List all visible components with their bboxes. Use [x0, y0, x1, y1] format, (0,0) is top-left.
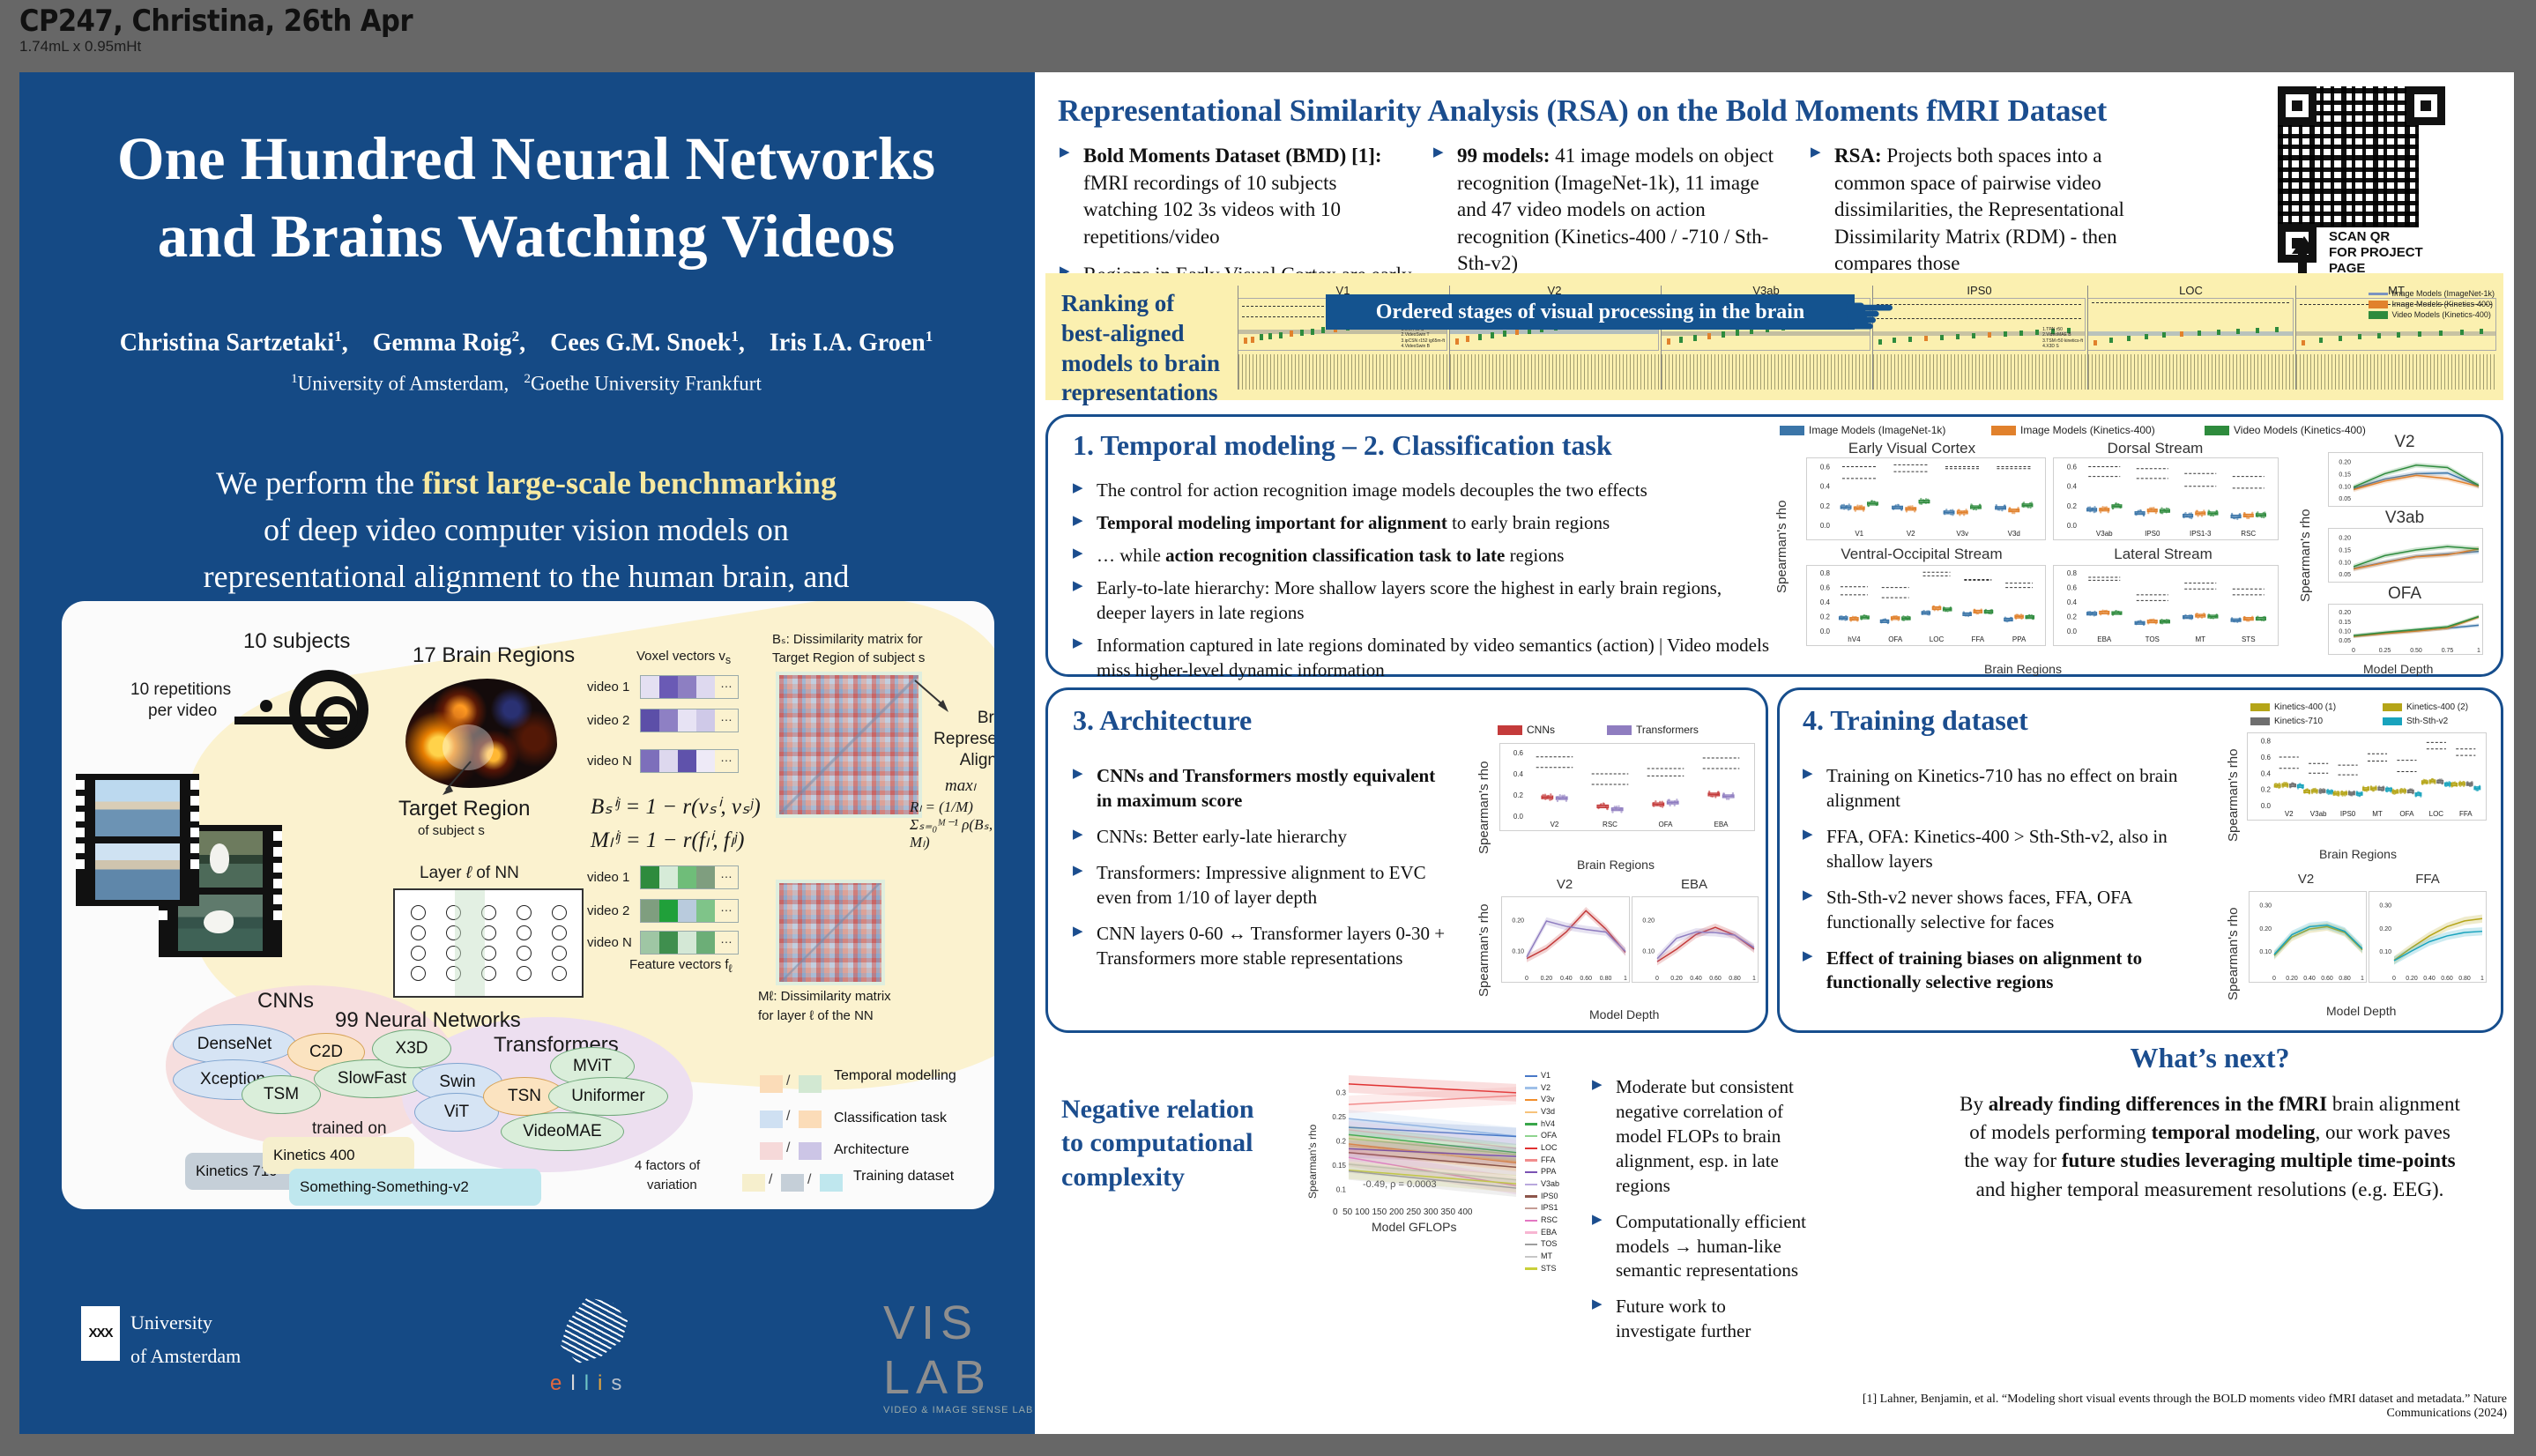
qr-finder-tl: [2278, 86, 2317, 125]
ranking-title-l3: models to brain: [1061, 349, 1238, 379]
svg-text:0.6: 0.6: [1820, 464, 1831, 472]
s12-legend-1: Image Models (ImageNet-1k): [1780, 424, 1945, 436]
neg-bullet-2-text: Computationally efficient models → human…: [1616, 1211, 1806, 1281]
svg-text:0: 0: [2272, 976, 2276, 982]
s12-legend-2: Image Models (Kinetics-400): [1991, 424, 2155, 436]
svg-text:0.05: 0.05: [2339, 572, 2351, 578]
svg-text:0.0: 0.0: [1820, 522, 1831, 530]
svg-text:STS: STS: [2242, 635, 2256, 643]
negative-bullets: Moderate but consistent negative correla…: [1592, 1075, 1811, 1356]
svg-text:MT: MT: [2195, 635, 2205, 643]
section-12-card: 1. Temporal modeling – 2. Classification…: [1045, 414, 2503, 677]
scan-arrow-stem-icon: [2298, 252, 2307, 273]
rsa-bullet-5: RSA: Projects both spaces into a common …: [1811, 143, 2172, 278]
s3-depth-xlabel: Model Depth: [1589, 1007, 1659, 1021]
swatch-separator-4: /: [769, 1172, 772, 1188]
svg-text:0.4: 0.4: [1820, 598, 1831, 606]
s12-panel-title-vos: Ventral-Occipital Stream: [1794, 546, 2049, 563]
ranking-panel-v3ab-ticks: [1662, 354, 1870, 390]
ranking-title-l4: representations: [1061, 378, 1238, 408]
model-rdm-matrix: [776, 880, 885, 985]
ranking-panel-mt-ticks: [2296, 354, 2496, 390]
gflops-legend-item: V3v: [1525, 1094, 1559, 1106]
factor-swatch-arch-a: [760, 1142, 783, 1160]
gflops-legend-item: V2: [1525, 1082, 1559, 1095]
wn-l1b: already finding differences in the fMRI: [1989, 1093, 2327, 1115]
s4-box-xlabel: Brain Regions: [2319, 847, 2397, 861]
scan-arrow-head-icon: [2292, 236, 2317, 254]
ips0-top-3: 3.TSM r50 kinetics-ft: [2042, 338, 2083, 344]
svg-text:0.0: 0.0: [1513, 813, 1524, 821]
gflops-legend-swatch: [1525, 1195, 1537, 1198]
subject-head-icon: [260, 700, 272, 712]
gflops-legend-swatch: [1525, 1099, 1537, 1102]
s3-depth-title-v2: V2: [1499, 877, 1630, 892]
svg-text:0.2: 0.2: [1336, 1138, 1347, 1146]
negative-relation-section: Negative relation to computational compl…: [1052, 1040, 1775, 1304]
feature-row-video2: video 2 …: [587, 899, 739, 923]
s12-panel-title-evc: Early Visual Cortex: [1794, 440, 2030, 457]
factor-swatch-temporal-b: [799, 1075, 822, 1093]
s12-legend-label-1: Image Models (ImageNet-1k): [1809, 424, 1945, 436]
section-3-title: 3. Architecture: [1073, 704, 1252, 737]
svg-text:V3ab: V3ab: [2310, 810, 2327, 818]
svg-text:0.2: 0.2: [1513, 791, 1524, 799]
gflops-legend-item: V1: [1525, 1070, 1559, 1082]
svg-text:IPS0: IPS0: [2145, 530, 2160, 538]
factor-legend-temporal: Temporal modelling: [834, 1068, 956, 1084]
brain-regions-label: 17 Brain Regions: [413, 643, 575, 668]
svg-text:0.60: 0.60: [1709, 976, 1722, 982]
svg-text:LOC: LOC: [2429, 810, 2444, 818]
s12-depth-ylabel: Spearman's rho: [2298, 509, 2313, 602]
svg-text:0.15: 0.15: [2339, 472, 2351, 478]
svg-text:OFA: OFA: [1888, 635, 1903, 643]
s4-depth-xlabel: Model Depth: [2326, 1004, 2396, 1018]
s12-legend-swatch-1: [1780, 426, 1804, 435]
factor-legend-architecture: Architecture: [834, 1142, 909, 1158]
svg-text:0.3: 0.3: [1336, 1088, 1347, 1096]
svg-text:0.25: 0.25: [2379, 648, 2391, 654]
svg-text:IPS0: IPS0: [2340, 810, 2356, 818]
formula-brain-rdm: Bₛⁱʲ = 1 − r(vₛⁱ, vₛʲ): [591, 793, 761, 820]
gflops-legend-swatch: [1525, 1171, 1537, 1174]
section-12-bullets: The control for action recognition image…: [1073, 479, 1769, 694]
gflops-legend-item: RSC: [1525, 1215, 1559, 1227]
s4-depth-title-ffa: FFA: [2369, 872, 2487, 887]
svg-text:0.60: 0.60: [2321, 976, 2333, 982]
svg-text:1: 1: [2480, 976, 2484, 982]
qr-code-image[interactable]: [2278, 86, 2419, 227]
svg-text:0.05: 0.05: [2339, 638, 2351, 644]
svg-text:V1: V1: [1855, 530, 1863, 538]
ellis-wordmark: ellis: [550, 1371, 630, 1396]
bra-label-3: Alignment: [931, 751, 994, 770]
svg-text:0.80: 0.80: [1600, 976, 1612, 982]
gflops-legend-swatch: [1525, 1075, 1537, 1078]
s4-legend-swatch-k400-2: [2383, 703, 2402, 711]
voxel-row-label-N: video N: [587, 754, 640, 769]
target-region-arrow: [441, 760, 476, 797]
gflops-legend-swatch: [1525, 1256, 1537, 1259]
gflops-legend-label: STS: [1541, 1263, 1557, 1275]
s3-legend-swatch-tr: [1607, 725, 1632, 735]
neg-title-l3: complexity: [1061, 1161, 1282, 1194]
uva-logo-text: University of Amsterdam: [130, 1304, 241, 1371]
gflops-legend-swatch: [1525, 1111, 1537, 1114]
svg-text:0.4: 0.4: [1820, 483, 1831, 491]
ranking-panel-ips0-title: IPS0: [1873, 284, 2086, 297]
gflops-legend-label: RSC: [1541, 1215, 1558, 1227]
neg-bullet-3: Future work to investigate further: [1592, 1295, 1811, 1344]
page-title: One Hundred Neural Networks and Brains W…: [55, 121, 998, 275]
s3-bullet-2-text: CNNs: Better early-late hierarchy: [1097, 826, 1347, 847]
feature-row-label-1: video 1: [587, 870, 640, 885]
s4-bullet-3-text: Sth-Sth-v2 never shows faces, FFA, OFA f…: [1826, 887, 2131, 932]
s4-depth-plot-v2: 0.100.200.3000.200.400.600.801: [2249, 891, 2367, 983]
gflops-legend-item: EBA: [1525, 1227, 1559, 1239]
s3-legend-label-tr: Transformers: [1636, 724, 1699, 736]
gflops-annotation: -0.49, ρ = 0.0003: [1363, 1179, 1437, 1190]
gflops-legend-swatch: [1525, 1123, 1537, 1125]
poster-canvas: One Hundred Neural Networks and Brains W…: [19, 72, 2514, 1434]
section-4-bullets: Training on Kinetics-710 has no effect o…: [1803, 764, 2208, 1007]
wn-l3a: the way for: [1964, 1149, 2062, 1171]
s4-depth-plot-ffa: 0.100.200.3000.200.400.600.801: [2369, 891, 2487, 983]
svg-text:0: 0: [2352, 648, 2355, 654]
s3-legend-label-cnn: CNNs: [1527, 724, 1555, 736]
ranking-legend: Image Models (ImageNet-1k) Image Models …: [2369, 289, 2495, 321]
gflops-legend-label: V3v: [1541, 1094, 1555, 1106]
svg-text:0.05: 0.05: [2339, 496, 2351, 502]
svg-text:0.40: 0.40: [1560, 976, 1573, 982]
neg-title-l1: Negative relation: [1061, 1093, 1282, 1126]
section-4-card: 4. Training dataset Training on Kinetics…: [1777, 687, 2503, 1033]
dataset-something-something: Something-Something-v2: [289, 1169, 541, 1206]
qr-label-scan: SCAN: [2329, 229, 2367, 244]
svg-text:0.6: 0.6: [1513, 749, 1524, 757]
alignment-arrow: [913, 679, 952, 714]
gflops-legend-item: FFA: [1525, 1155, 1559, 1167]
vislab-subtitle: VIDEO & IMAGE SENSE LAB: [883, 1405, 1033, 1415]
svg-text:0.4: 0.4: [2067, 598, 2078, 606]
repetitions-label-2: per video: [148, 702, 217, 721]
s3-bullet-4: CNN layers 0-60 ↔ Transformer layers 0-3…: [1073, 922, 1452, 971]
svg-text:V3d: V3d: [2008, 530, 2020, 538]
ranking-top-models-ips0: 1.TPN r50 2.VideoMAE B 3.TSM r50 kinetic…: [2042, 327, 2083, 349]
uva-line-2: of Amsterdam: [130, 1345, 241, 1367]
model-bubble-uniformer: Uniformer: [548, 1077, 668, 1116]
factor-swatch-train-b: [781, 1174, 804, 1192]
gflops-legend-item: MT: [1525, 1251, 1559, 1263]
swatch-separator-2: /: [786, 1109, 790, 1125]
s12-bullet-3-bold: action recognition classification task t…: [1165, 545, 1505, 566]
s4-legend-label-3: Kinetics-710: [2274, 717, 2323, 726]
ranking-legend-row-2: Image Models (Kinetics-400): [2369, 300, 2495, 308]
svg-text:0.20: 0.20: [2379, 926, 2391, 932]
gflops-legend-label: V1: [1541, 1070, 1551, 1082]
target-region-label-1: Target Region: [398, 797, 530, 821]
v1-top-3: 3.ipCSN r152 ig65m-ft: [1402, 338, 1445, 344]
trained-on-label: trained on: [312, 1119, 387, 1139]
svg-text:0.15: 0.15: [1332, 1162, 1346, 1170]
svg-text:1: 1: [2361, 976, 2364, 982]
s4-bullet-4-bold: Effect of training biases on alignment t…: [1826, 947, 2142, 993]
gflops-legend-swatch: [1525, 1159, 1537, 1162]
section-3-bullets: CNNs and Transformers mostly equivalent …: [1073, 764, 1452, 982]
gflops-legend-swatch: [1525, 1184, 1537, 1186]
s4-legend-swatch-k710: [2250, 717, 2270, 725]
ellis-logo: ellis: [529, 1297, 679, 1394]
nn-layer-label: Layer ℓ of NN: [420, 864, 519, 883]
svg-text:0.75: 0.75: [2442, 648, 2454, 654]
gflops-legend-label: TOS: [1541, 1238, 1557, 1251]
qr-code-block[interactable]: SCAN QR FOR PROJECT PAGE: [2278, 86, 2445, 263]
svg-text:0.4: 0.4: [2261, 769, 2272, 777]
ranking-legend-label-3: Video Models (Kinetics-400): [2391, 310, 2490, 319]
uva-shield-icon: XXX: [81, 1306, 120, 1361]
svg-text:0.60: 0.60: [1580, 976, 1592, 982]
method-figure: 10 subjects 10 repetitions per video 17 …: [62, 601, 994, 1209]
s4-depth-title-v2: V2: [2247, 872, 2365, 887]
s3-bullet-1: CNNs and Transformers mostly equivalent …: [1073, 764, 1452, 813]
gflops-legend-swatch: [1525, 1231, 1537, 1234]
author-list: Christina Sartzetaki1, Gemma Roig2, Cees…: [55, 328, 998, 357]
bra-label-2: Representational: [922, 730, 994, 749]
feature-row-videoN: video N …: [587, 931, 739, 955]
s4-legend-1: Kinetics-400 (1): [2250, 702, 2336, 712]
s3-legend-1: CNNs: [1498, 724, 1555, 736]
wn-l1a: By: [1960, 1093, 1989, 1115]
gflops-legend-swatch: [1525, 1267, 1537, 1270]
s3-depth-plot-v2: 0.100.2000.200.400.600.801: [1501, 896, 1630, 983]
wn-l3b: future studies leveraging multiple time-…: [2062, 1149, 2456, 1171]
qr-label-qr: QR: [2370, 229, 2391, 244]
gflops-legend-item: TOS: [1525, 1238, 1559, 1251]
s12-depth-plot-v2: 0.050.100.150.20: [2328, 452, 2483, 507]
section-3-card: 3. Architecture CNNs and Transformers mo…: [1045, 687, 1768, 1033]
svg-text:0.20: 0.20: [1642, 917, 1655, 924]
svg-text:0.20: 0.20: [2339, 610, 2351, 616]
s3-bullet-3-text: Transformers: Impressive alignment to EV…: [1097, 862, 1426, 908]
s4-bullet-2: FFA, OFA: Kinetics-400 > Sth-Sth-v2, als…: [1803, 825, 2208, 874]
gflops-legend-item: V3ab: [1525, 1178, 1559, 1191]
s12-plot-evc: 0.00.20.40.6V1V2V3vV3d: [1806, 457, 2046, 540]
rsa-bullet-1-text: fMRI recordings of 10 subjects watching …: [1083, 172, 1341, 248]
s12-legend-swatch-3: [2205, 426, 2229, 435]
formula-max-label: maxₗ: [945, 776, 976, 796]
svg-text:0.10: 0.10: [2379, 949, 2391, 955]
ml-caption-line2: for layer ℓ of the NN: [758, 1008, 874, 1023]
svg-text:V2: V2: [1907, 530, 1915, 538]
s4-legend-label-1: Kinetics-400 (1): [2274, 702, 2336, 712]
svg-text:0.15: 0.15: [2339, 547, 2351, 553]
s4-depth-ylabel: Spearman's rho: [2226, 908, 2241, 1000]
swatch-separator-5: /: [807, 1172, 811, 1188]
svg-text:0.0: 0.0: [2067, 628, 2078, 635]
wn-l4: and higher temporal measurement resoluti…: [1976, 1178, 2444, 1200]
s3-legend-swatch-cnn: [1498, 725, 1522, 735]
video-filmstrip-1: [76, 774, 199, 906]
s12-bullet-2-bold: Temporal modeling important for alignmen…: [1097, 512, 1447, 533]
s12-bullet-5: Information captured in late regions dom…: [1073, 634, 1769, 683]
wn-l1c: brain alignment: [2327, 1093, 2460, 1115]
svg-text:0.40: 0.40: [2423, 976, 2436, 982]
gflops-legend-item: OFA: [1525, 1130, 1559, 1142]
model-bubble-x3d: X3D: [372, 1029, 451, 1068]
svg-text:TOS: TOS: [2146, 635, 2160, 643]
legend-swatch-imagenet: [2369, 293, 2388, 295]
ranking-panel-loc-ticks: [2088, 354, 2294, 390]
model-bubble-videomae: VideoMAE: [501, 1112, 624, 1151]
svg-text:1: 1: [1752, 976, 1756, 982]
s12-panel-title-lateral: Lateral Stream: [2053, 546, 2273, 563]
s4-legend-2: Kinetics-400 (2): [2383, 702, 2468, 712]
rsa-section-title: Representational Similarity Analysis (RS…: [1058, 93, 2107, 129]
svg-text:hV4: hV4: [1848, 635, 1861, 643]
svg-text:0.20: 0.20: [2339, 460, 2351, 466]
repetitions-label-1: 10 repetitions: [130, 680, 231, 700]
svg-text:FFA: FFA: [2459, 810, 2473, 818]
gflops-legend-item: IPS0: [1525, 1191, 1559, 1203]
svg-text:RSC: RSC: [1603, 821, 1618, 828]
scanner-bed-icon: [234, 717, 347, 724]
svg-text:V2: V2: [1551, 821, 1559, 828]
s3-bullet-4-text: CNN layers 0-60 ↔ Transformer layers 0-3…: [1097, 923, 1445, 969]
rsa-bullet-3: 99 models: 41 image models on object rec…: [1433, 143, 1786, 278]
svg-text:IPS1-3: IPS1-3: [2190, 530, 2212, 538]
s12-box-ylabel: Spearman's rho: [1774, 501, 1789, 593]
svg-text:0.10: 0.10: [1512, 949, 1524, 955]
svg-text:0.10: 0.10: [2339, 484, 2351, 490]
window-title-bar: CP247, Christina, 26th Apr 1.74mL x 0.95…: [0, 0, 2536, 72]
svg-text:MT: MT: [2372, 810, 2383, 818]
factor-legend-training: Training dataset: [853, 1169, 954, 1185]
svg-text:0.6: 0.6: [2067, 464, 2078, 472]
neg-title-l2: to computational: [1061, 1126, 1282, 1160]
factor-swatch-arch-b: [799, 1142, 822, 1160]
voxel-row-label-2: video 2: [587, 713, 640, 728]
gflops-legend-item: IPS1: [1525, 1202, 1559, 1215]
svg-text:0.6: 0.6: [1820, 584, 1831, 592]
svg-text:0.6: 0.6: [2261, 754, 2272, 761]
factor-swatch-class-a: [760, 1111, 783, 1128]
svg-text:EBA: EBA: [2097, 635, 2112, 643]
s12-depth-title-v2: V2: [2321, 433, 2488, 452]
ranking-panel-v1-ticks: [1238, 354, 1447, 390]
factor-swatch-train-c: [820, 1174, 843, 1192]
summary-l3: representational alignment to the human …: [204, 559, 850, 594]
svg-text:0.20: 0.20: [2339, 536, 2351, 542]
svg-text:FFA: FFA: [1971, 635, 1984, 643]
qr-label-for: FOR: [2329, 245, 2357, 260]
subjects-label: 10 subjects: [243, 629, 350, 654]
gflops-legend-item: STS: [1525, 1263, 1559, 1275]
svg-text:0.25: 0.25: [1332, 1113, 1346, 1121]
neural-network-diagram: [393, 888, 584, 998]
nn-count-label: 99 Neural Networks: [335, 1008, 521, 1033]
gflops-legend-item: V3d: [1525, 1106, 1559, 1118]
s12-depth-title-ofa: OFA: [2321, 584, 2488, 604]
s3-bullet-1-bold: CNNs and Transformers mostly equivalent …: [1097, 765, 1435, 811]
ellis-map-icon: [552, 1297, 640, 1366]
s4-bullet-3: Sth-Sth-v2 never shows faces, FFA, OFA f…: [1803, 886, 2208, 935]
rsa-bullet-3-bold: 99 models:: [1457, 145, 1550, 167]
gflops-legend-label: V2: [1541, 1082, 1551, 1095]
svg-text:0.60: 0.60: [2441, 976, 2453, 982]
svg-text:1: 1: [1624, 976, 1627, 982]
svg-text:0.20: 0.20: [1541, 976, 1553, 982]
svg-text:0.0: 0.0: [2261, 802, 2272, 810]
gflops-xlabel: Model GFLOPs: [1372, 1220, 1456, 1234]
voxel-row-video2: video 2 …: [587, 709, 739, 732]
s3-depth-ylabel: Spearman's rho: [1476, 904, 1491, 997]
s3-box-ylabel: Spearman's rho: [1476, 761, 1491, 854]
gflops-ylabel: Spearman's rho: [1306, 1125, 1319, 1199]
svg-text:0.2: 0.2: [1820, 502, 1831, 510]
summary-l2: of deep video computer vision models on: [264, 512, 789, 547]
svg-text:0: 0: [2392, 976, 2396, 982]
gflops-legend-swatch: [1525, 1135, 1537, 1138]
vislab-line-2: LAB: [883, 1350, 1033, 1405]
bs-caption-line2: Target Region of subject s: [772, 650, 925, 665]
formula-model-rdm: Mₗⁱʲ = 1 − r(fₗⁱ, fₗʲ): [591, 827, 744, 853]
factors-label-1: 4 factors of: [635, 1158, 700, 1173]
svg-text:0: 0: [1525, 976, 1528, 982]
factor-swatch-train-a: [742, 1174, 765, 1192]
whats-next-section: What’s next? By already finding differen…: [1916, 1042, 2503, 1204]
svg-text:0.2: 0.2: [2067, 502, 2078, 510]
ranking-title-l1: Ranking of: [1061, 289, 1238, 319]
s12-depth-title-v3ab: V3ab: [2321, 509, 2488, 528]
ranking-title: Ranking of best-aligned models to brain …: [1061, 289, 1238, 408]
v1-top-4: 4.VideoSwin B: [1402, 344, 1445, 349]
vislab-logo: VIS LAB VIDEO & IMAGE SENSE LAB: [883, 1296, 1033, 1415]
neg-bullet-1-text: Moderate but consistent negative correla…: [1616, 1076, 1794, 1196]
wn-l2b: temporal modeling: [2152, 1121, 2316, 1143]
ranking-legend-row-3: Video Models (Kinetics-400): [2369, 310, 2495, 319]
poster-left-column: One Hundred Neural Networks and Brains W…: [19, 72, 1035, 1434]
s12-legend-swatch-2: [1991, 426, 2016, 435]
s12-bullet-2-text: to early brain regions: [1447, 512, 1610, 533]
ranking-band: Ranking of best-aligned models to brain …: [1045, 273, 2503, 400]
s4-legend-swatch-k400-1: [2250, 703, 2270, 711]
summary-l1a: We perform the: [216, 465, 422, 501]
s12-bullet-1: The control for action recognition image…: [1073, 479, 1769, 503]
uva-line-1: University: [130, 1311, 212, 1333]
s4-bullet-1: Training on Kinetics-710 has no effect o…: [1803, 764, 2208, 813]
video-frame-river-2: [95, 843, 180, 900]
gflops-legend-item: LOC: [1525, 1142, 1559, 1155]
ips0-top-4: 4.X3D S: [2042, 344, 2083, 349]
feature-vectors-label: Feature vectors fℓ: [629, 957, 733, 975]
s12-bullet-4: Early-to-late hierarchy: More shallow la…: [1073, 576, 1769, 626]
wn-l2c: , our work paves: [2315, 1121, 2450, 1143]
svg-text:0.30: 0.30: [2259, 903, 2272, 910]
svg-text:PPA: PPA: [2012, 635, 2027, 643]
svg-text:0.40: 0.40: [1690, 976, 1702, 982]
svg-text:OFA: OFA: [2399, 810, 2414, 818]
s4-bullet-1-text: Training on Kinetics-710 has no effect o…: [1826, 765, 2177, 811]
voxel-row-video1: video 1 …: [587, 675, 739, 699]
swatch-separator-3: /: [786, 1140, 790, 1156]
s4-bullet-2-text: FFA, OFA: Kinetics-400 > Sth-Sth-v2, als…: [1826, 826, 2168, 872]
ranking-panel-ips0-plot: 1.TPN r50 2.VideoMAE B 3.TSM r50 kinetic…: [1873, 298, 2086, 351]
factor-swatch-class-b: [799, 1111, 822, 1128]
svg-text:0: 0: [1655, 976, 1659, 982]
uva-logo: XXX University of Amsterdam: [81, 1306, 346, 1377]
svg-text:0.2: 0.2: [1820, 613, 1831, 621]
